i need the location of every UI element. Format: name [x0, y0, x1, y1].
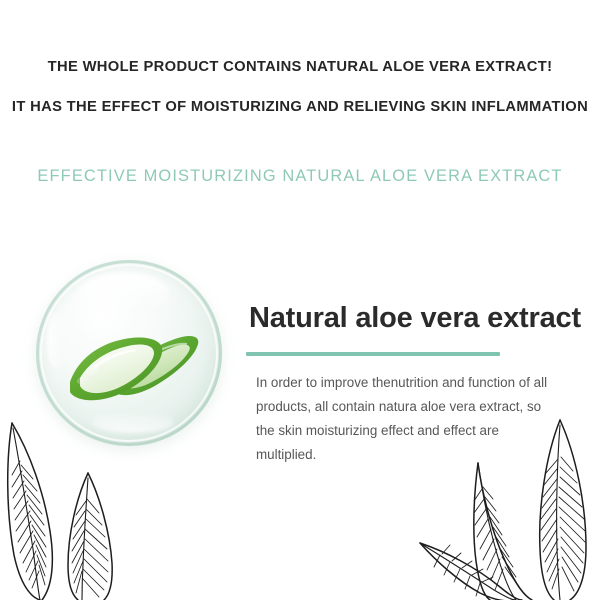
headline-block: THE WHOLE PRODUCT CONTAINS NATURAL ALOE …	[0, 58, 600, 115]
subtitle-text: EFFECTIVE MOISTURIZING NATURAL ALOE VERA…	[0, 167, 600, 186]
sketch-leaves-bottom-left	[0, 415, 175, 600]
headline-line-1: THE WHOLE PRODUCT CONTAINS NATURAL ALOE …	[9, 58, 591, 75]
heading-divider	[246, 352, 500, 356]
infographic-page: THE WHOLE PRODUCT CONTAINS NATURAL ALOE …	[0, 0, 600, 600]
leaf-outline-small-left	[68, 473, 112, 600]
leaf-outline-large-right	[540, 420, 586, 600]
leaf-outline-large-left	[8, 423, 53, 600]
leaf-outline-lower-right	[420, 543, 522, 600]
headline-line-2: IT HAS THE EFFECT OF MOISTURIZING AND RE…	[9, 98, 591, 115]
feature-heading: Natural aloe vera extract	[249, 302, 581, 335]
leaf-outline-mid-right	[474, 463, 532, 600]
sketch-leaves-bottom-right	[410, 415, 600, 600]
